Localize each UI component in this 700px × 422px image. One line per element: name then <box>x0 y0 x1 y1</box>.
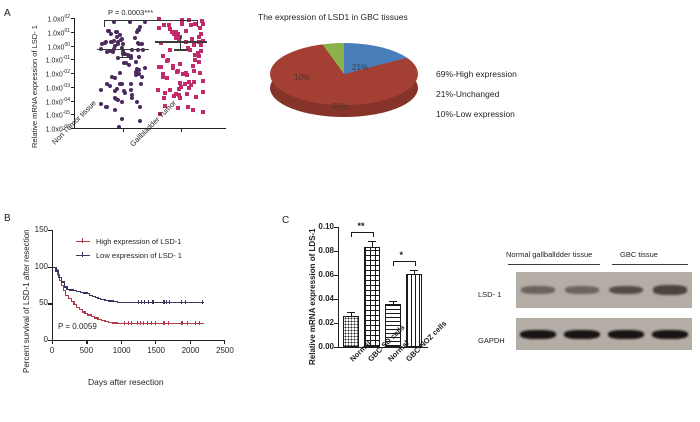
scatter-point-tumor <box>173 32 177 36</box>
km-censor-low <box>144 300 145 304</box>
scatter-point-tumor <box>168 27 172 31</box>
scatter-p-value: P = 0.0003*** <box>108 8 153 17</box>
scatter-point-non-tumor <box>124 61 128 65</box>
scatter-y-tick-label: 1.0x0-01 <box>28 55 70 64</box>
scatter-error-tumor <box>180 36 181 49</box>
scatter-point-tumor <box>157 65 161 69</box>
km-censor-high <box>140 321 141 325</box>
km-y-axis <box>52 230 53 340</box>
bar-y-tick <box>334 227 338 228</box>
km-censor-low <box>138 300 139 304</box>
scatter-point-tumor <box>156 88 160 92</box>
scatter-point-non-tumor <box>139 82 143 86</box>
blot-underline-normal <box>508 264 600 265</box>
km-censor-high <box>199 321 200 325</box>
km-x-tick <box>190 340 191 344</box>
scatter-point-tumor <box>191 108 195 112</box>
scatter-point-non-tumor <box>140 75 144 79</box>
pie-3d-top <box>270 43 418 105</box>
blot-band-gapdh-lane-2 <box>564 330 599 339</box>
scatter-point-tumor <box>174 92 178 96</box>
blot-band-lsd1-lane-4 <box>653 285 686 294</box>
km-censor-low <box>202 300 203 304</box>
scatter-point-tumor <box>186 105 190 109</box>
scatter-y-tick-label: 1.0x001 <box>28 28 70 37</box>
scatter-y-tick <box>71 18 74 19</box>
scatter-point-non-tumor <box>130 96 134 100</box>
km-censor-high <box>195 321 196 325</box>
scatter-point-tumor <box>166 58 170 62</box>
scatter-point-non-tumor <box>140 42 144 46</box>
scatter-y-axis <box>74 18 75 128</box>
km-y-tick <box>48 303 52 304</box>
km-x-tick <box>52 340 53 344</box>
blot-band-gapdh-lane-1 <box>520 330 555 339</box>
km-legend-tick-high <box>82 238 83 243</box>
scatter-y-tick-label: 1.0x0-04 <box>28 97 70 106</box>
panel-b-letter: B <box>4 213 11 224</box>
km-x-tick-label: 500 <box>78 346 94 355</box>
bar-y-tick-label: 0.00 <box>306 342 334 351</box>
scatter-point-non-tumor <box>108 84 112 88</box>
bar-y-tick <box>334 299 338 300</box>
km-censor-high <box>143 321 144 325</box>
km-censor-high <box>151 321 152 325</box>
km-p-value: P = 0.0059 <box>58 322 97 331</box>
scatter-point-tumor <box>191 64 195 68</box>
km-y-tick-label: 50 <box>26 298 48 307</box>
bar-y-tick-label: 0.02 <box>306 318 334 327</box>
km-censor-low <box>148 300 149 304</box>
scatter-point-tumor <box>165 76 169 80</box>
blot-row-label-lsd1: LSD- 1 <box>478 290 501 299</box>
km-censor-low <box>152 300 153 304</box>
scatter-point-non-tumor <box>99 102 103 106</box>
blot-membrane-gapdh <box>516 318 692 350</box>
scatter-point-tumor <box>176 106 180 110</box>
scatter-point-non-tumor <box>135 100 139 104</box>
scatter-y-tick-label: 1.0x002 <box>28 14 70 23</box>
scatter-point-tumor <box>201 79 205 83</box>
km-x-tick-label: 2000 <box>182 346 198 355</box>
km-x-tick <box>224 340 225 344</box>
scatter-point-non-tumor <box>138 119 142 123</box>
bar-y-tick-label: 0.10 <box>306 222 334 231</box>
km-x-tick <box>155 340 156 344</box>
scatter-point-tumor <box>184 29 188 33</box>
bar-significance-bracket-0 <box>351 232 374 237</box>
blot-band-lsd1-lane-3 <box>609 286 642 295</box>
pie-slice-label-high: 69% <box>332 102 348 111</box>
km-censor-low <box>185 300 186 304</box>
western-blot-panel: Normal gallballdder tissue GBC tissue LS… <box>478 248 700 368</box>
bar-0 <box>343 316 359 347</box>
scatter-x-tick <box>181 128 182 132</box>
scatter-point-non-tumor <box>134 60 138 64</box>
scatter-point-tumor <box>168 88 172 92</box>
bar-y-tick <box>334 347 338 348</box>
scatter-point-non-tumor <box>99 88 103 92</box>
scatter-point-non-tumor <box>129 56 133 60</box>
scatter-point-tumor <box>185 92 189 96</box>
scatter-point-tumor <box>200 19 204 23</box>
km-legend-tick-low <box>82 252 83 257</box>
scatter-point-tumor <box>168 48 172 52</box>
scatter-point-non-tumor <box>113 108 117 112</box>
scatter-point-tumor <box>188 48 192 52</box>
blot-membrane-lsd1 <box>516 272 692 308</box>
bar-y-tick <box>334 275 338 276</box>
km-censor-high <box>147 321 148 325</box>
bar-y-tick <box>334 251 338 252</box>
bar-y-axis <box>338 227 339 347</box>
scatter-y-tick <box>71 46 74 47</box>
bar-y-tick-label: 0.04 <box>306 294 334 303</box>
panel-c-bars: C Relative mRNA expression of LDS-1 *** … <box>282 205 482 422</box>
pie-chart-panel: The expression of LSD1 in GBC tissues 21… <box>258 12 558 152</box>
scatter-y-tick <box>71 101 74 102</box>
km-x-tick-label: 0 <box>44 346 60 355</box>
km-x-axis-title: Days after resection <box>88 377 164 387</box>
blot-row-label-gapdh: GAPDH <box>478 336 505 345</box>
km-censor-high <box>137 321 138 325</box>
blot-band-gapdh-lane-3 <box>608 330 643 339</box>
scatter-point-tumor <box>161 54 165 58</box>
pie-slice-label-low: 10% <box>294 73 310 82</box>
bar-y-tick-label: 0.06 <box>306 270 334 279</box>
scatter-point-non-tumor <box>118 71 122 75</box>
km-censor-high <box>168 321 169 325</box>
scatter-point-tumor <box>175 70 179 74</box>
blot-header-gbc: GBC tissue <box>620 250 658 259</box>
panel-c-letter: C <box>282 215 289 226</box>
scatter-point-tumor <box>197 60 201 64</box>
km-x-tick <box>86 340 87 344</box>
panel-a-letter: A <box>4 8 11 19</box>
bar-error-cap-1 <box>368 241 376 242</box>
scatter-point-non-tumor <box>113 89 117 93</box>
scatter-point-non-tumor <box>120 100 124 104</box>
pie-legend-unchanged: 21%-Unchanged <box>436 89 499 99</box>
km-censor-high <box>163 321 164 325</box>
scatter-point-tumor <box>201 110 205 114</box>
scatter-point-tumor <box>194 95 198 99</box>
panel-b-survival: B Percent survival of LSD-1 after resect… <box>0 205 280 422</box>
scatter-point-tumor <box>183 82 187 86</box>
scatter-y-tick-label: 1.0x0-02 <box>28 69 70 78</box>
km-censor-high <box>155 321 156 325</box>
scatter-point-tumor <box>195 53 199 57</box>
scatter-point-non-tumor <box>129 82 133 86</box>
km-y-tick <box>48 230 52 231</box>
bar-significance-bracket-1 <box>393 261 416 266</box>
scatter-point-tumor <box>171 66 175 70</box>
scatter-x-tick <box>123 128 124 132</box>
km-censor-high <box>124 321 125 325</box>
scatter-point-tumor <box>192 80 196 84</box>
scatter-point-tumor <box>189 83 193 87</box>
scatter-point-non-tumor <box>100 42 104 46</box>
km-legend-label-high: High expression of LSD-1 <box>96 237 181 246</box>
km-legend-label-low: Low expression of LSD- 1 <box>96 251 182 260</box>
scatter-point-tumor <box>179 85 183 89</box>
scatter-error-cap-tumor <box>174 49 188 50</box>
km-y-tick-label: 150 <box>26 225 48 234</box>
bar-y-tick <box>334 323 338 324</box>
km-x-tick-label: 1000 <box>113 346 129 355</box>
scatter-y-tick-label: 1.0x0-03 <box>28 83 70 92</box>
blot-band-lsd1-lane-1 <box>521 286 554 294</box>
km-x-tick-label: 2500 <box>216 346 232 355</box>
km-x-tick-label: 1500 <box>147 346 163 355</box>
scatter-point-non-tumor <box>143 66 147 70</box>
scatter-point-tumor <box>178 62 182 66</box>
scatter-point-tumor <box>181 72 185 76</box>
scatter-y-tick <box>71 73 74 74</box>
pie-chart-title: The expression of LSD1 in GBC tissues <box>258 12 408 22</box>
km-censor-high <box>131 321 132 325</box>
km-censor-high <box>181 321 182 325</box>
bar-3 <box>406 274 422 347</box>
scatter-error-cap-non-tumor <box>116 57 130 58</box>
scatter-point-non-tumor <box>137 55 141 59</box>
scatter-point-tumor <box>201 90 205 94</box>
scatter-point-tumor <box>162 96 166 100</box>
bar-significance-star-1: * <box>400 250 404 260</box>
scatter-y-tick <box>71 114 74 115</box>
scatter-y-tick <box>71 128 74 129</box>
scatter-x-axis <box>74 128 226 129</box>
km-y-tick <box>48 267 52 268</box>
scatter-y-tick-label: 1.0x0-05 <box>28 110 70 119</box>
blot-underline-gbc <box>612 264 688 265</box>
scatter-point-tumor <box>198 71 202 75</box>
km-censor-low <box>163 300 164 304</box>
km-censor-high <box>128 321 129 325</box>
km-y-tick-label: 100 <box>26 262 48 271</box>
scatter-point-non-tumor <box>138 105 142 109</box>
pie-legend-low: 10%-Low expression <box>436 109 515 119</box>
scatter-point-non-tumor <box>123 91 127 95</box>
bar-error-cap-0 <box>347 312 355 313</box>
scatter-point-tumor <box>163 91 167 95</box>
blot-band-lsd1-lane-2 <box>565 286 598 294</box>
scatter-error-non-tumor <box>122 43 123 57</box>
bar-y-tick-label: 0.08 <box>306 246 334 255</box>
km-x-tick <box>121 340 122 344</box>
scatter-plot-area <box>74 18 222 128</box>
scatter-point-non-tumor <box>109 32 113 36</box>
bar-error-cap-3 <box>410 270 418 271</box>
pie-chart-graphic: 21% 10% 69% <box>270 37 418 137</box>
scatter-point-non-tumor <box>134 73 138 77</box>
km-censor-high <box>187 321 188 325</box>
scatter-point-non-tumor <box>133 36 137 40</box>
scatter-point-non-tumor <box>113 76 117 80</box>
km-curve-low-drop <box>58 270 59 277</box>
blot-band-gapdh-lane-4 <box>652 330 687 339</box>
scatter-point-tumor <box>192 43 196 47</box>
bar-1 <box>364 247 380 347</box>
bar-error-cap-2 <box>389 301 397 302</box>
scatter-y-tick-label: 1.0x0-06 <box>28 124 70 133</box>
km-censor-low <box>169 300 170 304</box>
km-x-axis <box>52 340 224 341</box>
scatter-point-tumor <box>199 43 203 47</box>
pie-legend-high: 69%-High expression <box>436 69 517 79</box>
scatter-point-tumor <box>192 69 196 73</box>
scatter-y-tick-label: 1.0x000 <box>28 42 70 51</box>
bar-plot-area: *** <box>338 227 426 347</box>
panel-a-scatter: A Relative mRNA expression of LSD- 1 P =… <box>0 0 250 195</box>
scatter-point-non-tumor <box>137 28 141 32</box>
bar-significance-star-0: ** <box>358 221 365 231</box>
scatter-point-tumor <box>198 26 202 30</box>
pie-slice-label-unchanged: 21% <box>352 63 368 72</box>
scatter-significance-bracket <box>104 20 198 27</box>
km-y-tick-label: 0 <box>26 335 48 344</box>
scatter-point-non-tumor <box>120 117 124 121</box>
scatter-y-tick <box>71 87 74 88</box>
km-censor-low <box>181 300 182 304</box>
blot-header-normal: Normal gallballdder tissue <box>506 250 592 259</box>
km-censor-low <box>166 300 167 304</box>
scatter-y-tick <box>71 32 74 33</box>
km-censor-low <box>141 300 142 304</box>
scatter-point-non-tumor <box>129 88 133 92</box>
scatter-y-tick <box>71 59 74 60</box>
scatter-point-tumor <box>197 35 201 39</box>
